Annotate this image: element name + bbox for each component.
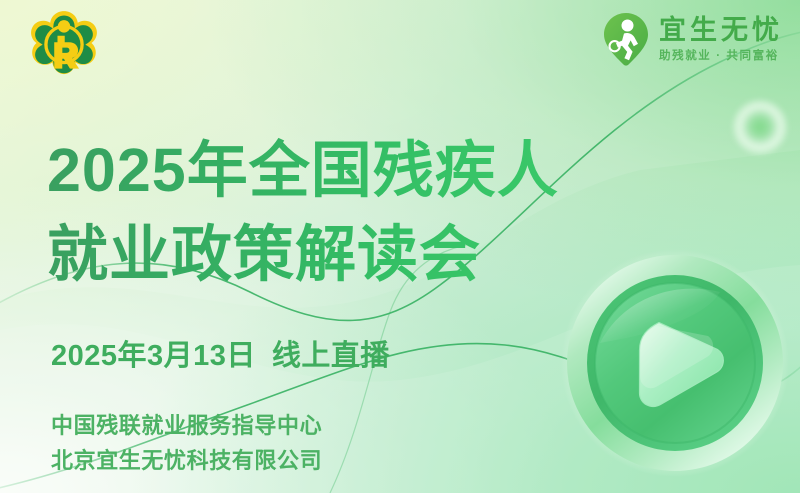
location-pin-person-icon — [602, 12, 650, 68]
event-channel: 线上直播 — [272, 340, 390, 372]
title-line-1: 2025年全国残疾人 — [47, 128, 607, 212]
organizer-line: 中国残联就业服务指导中心 — [51, 408, 322, 443]
title-line-2: 就业政策解读会 — [47, 212, 607, 296]
partner-slogan: 助残就业 · 共同富裕 — [659, 51, 783, 63]
event-date-line: 2025年3月13日线上直播 — [51, 332, 390, 374]
event-poster: 宜生无忧 助残就业 · 共同富裕 — [0, 0, 800, 493]
partner-logo: 宜生无忧 助残就业 · 共同富裕 — [602, 12, 783, 68]
organizer-line: 北京宜生无忧科技有限公司 — [51, 443, 322, 478]
cdpf-flower-logo — [27, 9, 101, 77]
partner-name: 宜生无忧 — [659, 17, 783, 44]
event-date: 2025年3月13日 — [51, 340, 256, 372]
organizer-list: 中国残联就业服务指导中心 北京宜生无忧科技有限公司 — [51, 408, 322, 478]
poster-title: 2025年全国残疾人 就业政策解读会 — [47, 128, 607, 296]
bubble-decoration-icon — [733, 100, 787, 154]
